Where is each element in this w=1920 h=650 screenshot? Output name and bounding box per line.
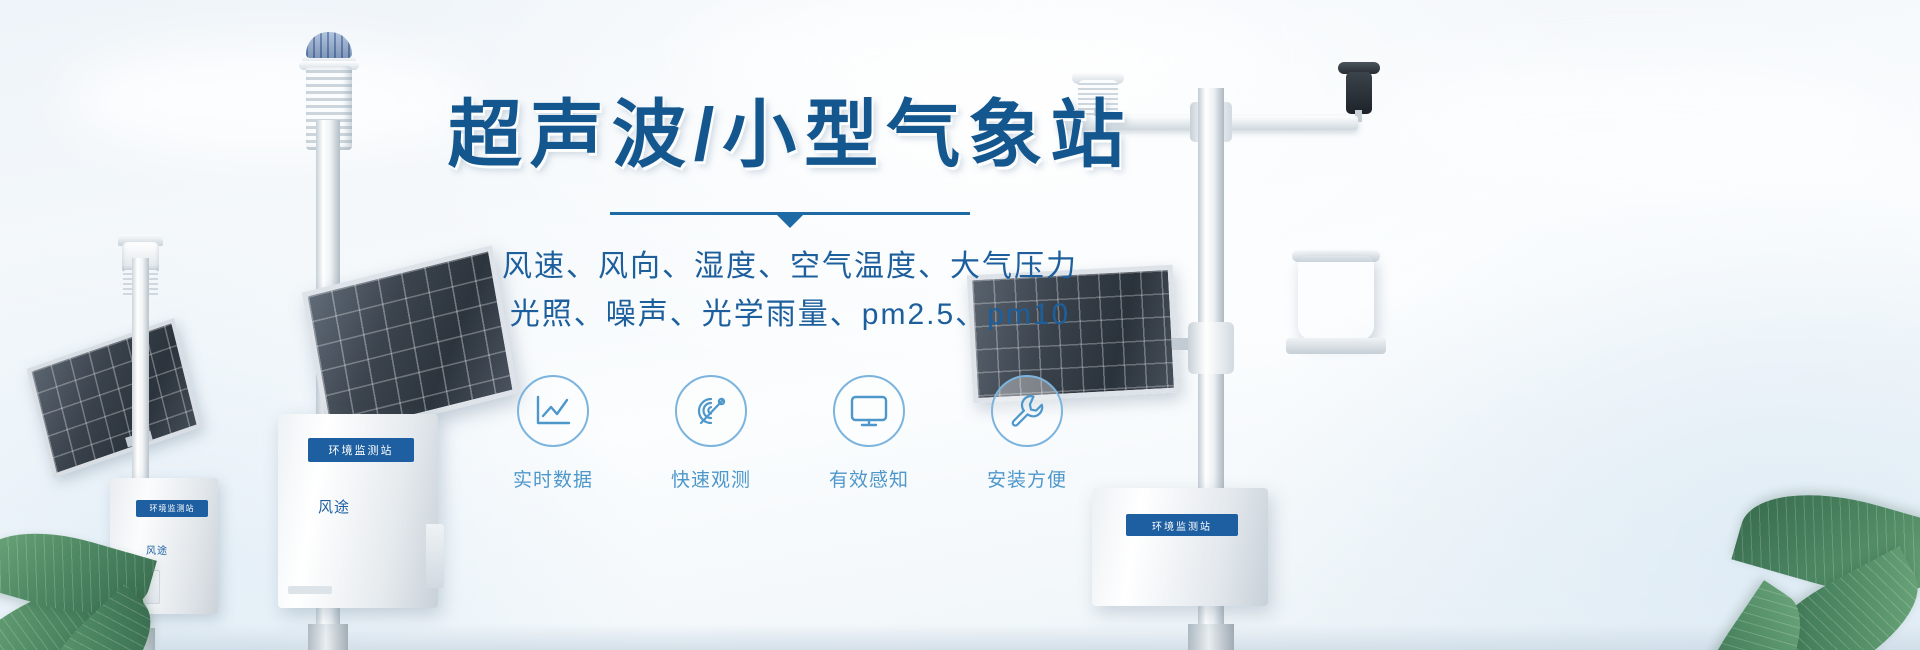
title-divider xyxy=(610,212,970,215)
subtitle-line-1: 风速、风向、湿度、空气温度、大气压力 xyxy=(440,243,1140,291)
subtitle-group: 风速、风向、湿度、空气温度、大气压力 光照、噪声、光学雨量、pm2.5、pm10 xyxy=(440,243,1140,339)
radar-signal-icon xyxy=(692,392,730,430)
cabinet-access-door xyxy=(426,524,444,588)
mast-collar-lower xyxy=(1188,322,1234,374)
control-cabinet: 环境监测站 xyxy=(1092,488,1268,606)
feature-icon-circle xyxy=(517,375,589,447)
divider-triangle-icon xyxy=(777,215,803,228)
feature-label: 快速观测 xyxy=(661,465,761,492)
cabinet-label-text: 环境监测站 xyxy=(150,503,195,514)
mast-base xyxy=(1188,624,1234,650)
product-hero-banner: 环境监测站 风途 环境监测站 风途 xyxy=(0,0,1920,650)
control-cabinet: 环境监测站 风途 xyxy=(278,414,438,608)
feature-label: 实时数据 xyxy=(503,465,603,492)
subtitle-line-2: 光照、噪声、光学雨量、pm2.5、pm10 xyxy=(440,291,1140,339)
cloud-shape xyxy=(1400,60,1880,190)
optical-rain-gauge xyxy=(1298,256,1374,340)
wrench-icon xyxy=(1008,392,1046,430)
feature-icon-circle xyxy=(675,375,747,447)
hero-copy-block: 超声波/小型气象站 风速、风向、湿度、空气温度、大气压力 光照、噪声、光学雨量、… xyxy=(440,96,1140,492)
feature-item-easy-install[interactable]: 安装方便 xyxy=(977,375,1077,492)
feature-icon-circle xyxy=(833,375,905,447)
cabinet-label-plate: 环境监测站 xyxy=(1126,514,1238,536)
monitor-screen-icon xyxy=(849,394,889,428)
cabinet-latch xyxy=(288,586,332,594)
feature-icon-circle xyxy=(991,375,1063,447)
feature-item-fast-observation[interactable]: 快速观测 xyxy=(661,375,761,492)
feature-icon-row: 实时数据 快速观测 xyxy=(440,375,1140,492)
cabinet-label-plate: 环境监测站 xyxy=(136,500,208,517)
solar-radiation-dome-sensor xyxy=(306,32,352,58)
feature-label: 安装方便 xyxy=(977,465,1077,492)
cabinet-label-plate: 环境监测站 xyxy=(308,438,414,462)
feature-label: 有效感知 xyxy=(819,465,919,492)
line-chart-icon xyxy=(533,394,573,428)
monitoring-camera xyxy=(1346,72,1372,114)
mast-base xyxy=(308,624,348,650)
feature-item-realtime-data[interactable]: 实时数据 xyxy=(503,375,603,492)
rain-gauge-bracket xyxy=(1286,338,1386,354)
cabinet-brand-logo: 风途 xyxy=(318,496,350,517)
cabinet-brand-logo: 风途 xyxy=(146,542,168,557)
solar-panel xyxy=(27,318,202,478)
cabinet-label-text: 环境监测站 xyxy=(1152,518,1212,533)
feature-item-effective-sensing[interactable]: 有效感知 xyxy=(819,375,919,492)
page-title: 超声波/小型气象站 xyxy=(440,96,1140,174)
cabinet-label-text: 环境监测站 xyxy=(329,442,394,458)
